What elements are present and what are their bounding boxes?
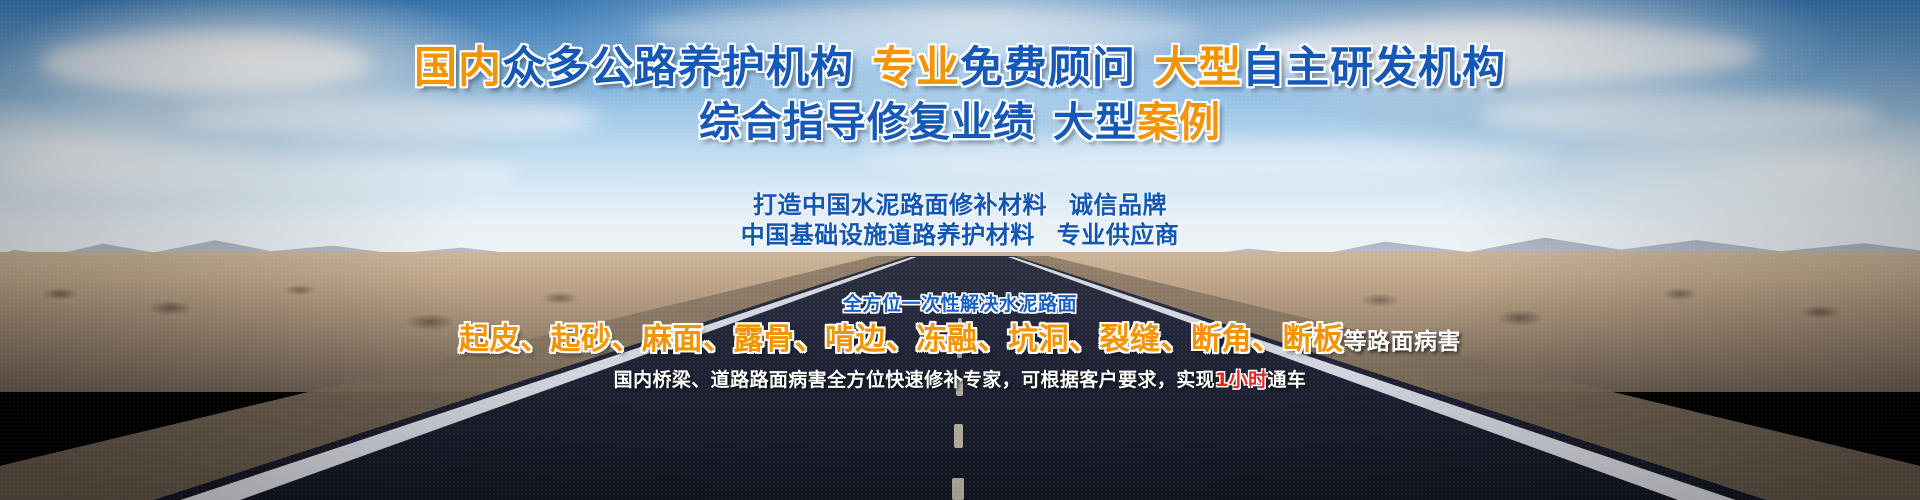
banner-text-layer: 国内众多公路养护机构专业免费顾问大型自主研发机构 综合指导修复业绩大型案例 打造… (0, 0, 1920, 500)
headline-segment-domestic: 国内 (414, 43, 502, 93)
headline-segment-rnd: 自主研发机构 (1242, 43, 1506, 93)
bottom-text-block: 全方位一次性解决水泥路面 起皮、起砂、麻面、露骨、啃边、冻融、坑洞、裂缝、断角、… (0, 292, 1920, 393)
headline-line-1: 国内众多公路养护机构专业免费顾问大型自主研发机构 (0, 40, 1920, 96)
bottom-disease-list: 起皮、起砂、麻面、露骨、啃边、冻融、坑洞、裂缝、断角、断板 (459, 322, 1344, 357)
headline-segment-free-consult: 免费顾问 (960, 43, 1136, 93)
bottom-intro-line: 全方位一次性解决水泥路面 (0, 292, 1920, 316)
headline-segment-professional: 专业 (872, 43, 960, 93)
bottom-closing-before: 国内桥梁、道路路面病害全方位快速修补专家，可根据客户要求，实现 (614, 369, 1215, 391)
headline-line-2: 综合指导修复业绩大型案例 (0, 96, 1920, 148)
headline-segment-large: 大型 (1154, 43, 1242, 93)
subheadline-trusted-brand: 诚信品牌 (1069, 191, 1167, 219)
subheadline-brand-claim: 打造中国水泥路面修补材料 (753, 191, 1047, 219)
bottom-disease-tail: 等路面病害 (1344, 329, 1462, 355)
subheadline-line-2: 中国基础设施道路养护材料专业供应商 (0, 220, 1920, 250)
headline-block: 国内众多公路养护机构专业免费顾问大型自主研发机构 综合指导修复业绩大型案例 (0, 40, 1920, 148)
headline-segment-large-2: 大型 (1053, 98, 1137, 146)
headline-segment-agencies: 众多公路养护机构 (502, 43, 854, 93)
headline-segment-cases: 案例 (1137, 98, 1221, 146)
bottom-closing-highlight: 1小时 (1215, 369, 1267, 391)
subheadline-infrastructure: 中国基础设施道路养护材料 (741, 221, 1035, 249)
subheadline-supplier: 专业供应商 (1057, 221, 1180, 249)
subheadline-block: 打造中国水泥路面修补材料诚信品牌 中国基础设施道路养护材料专业供应商 (0, 190, 1920, 250)
bottom-closing-after: 通车 (1268, 369, 1307, 391)
bottom-disease-line: 起皮、起砂、麻面、露骨、啃边、冻融、坑洞、裂缝、断角、断板等路面病害 (0, 320, 1920, 362)
bottom-closing-line: 国内桥梁、道路路面病害全方位快速修补专家，可根据客户要求，实现1小时通车 (0, 367, 1920, 393)
subheadline-line-1: 打造中国水泥路面修补材料诚信品牌 (0, 190, 1920, 220)
promo-banner: 国内众多公路养护机构专业免费顾问大型自主研发机构 综合指导修复业绩大型案例 打造… (0, 0, 1920, 500)
headline-segment-guidance: 综合指导修复业绩 (699, 98, 1035, 146)
